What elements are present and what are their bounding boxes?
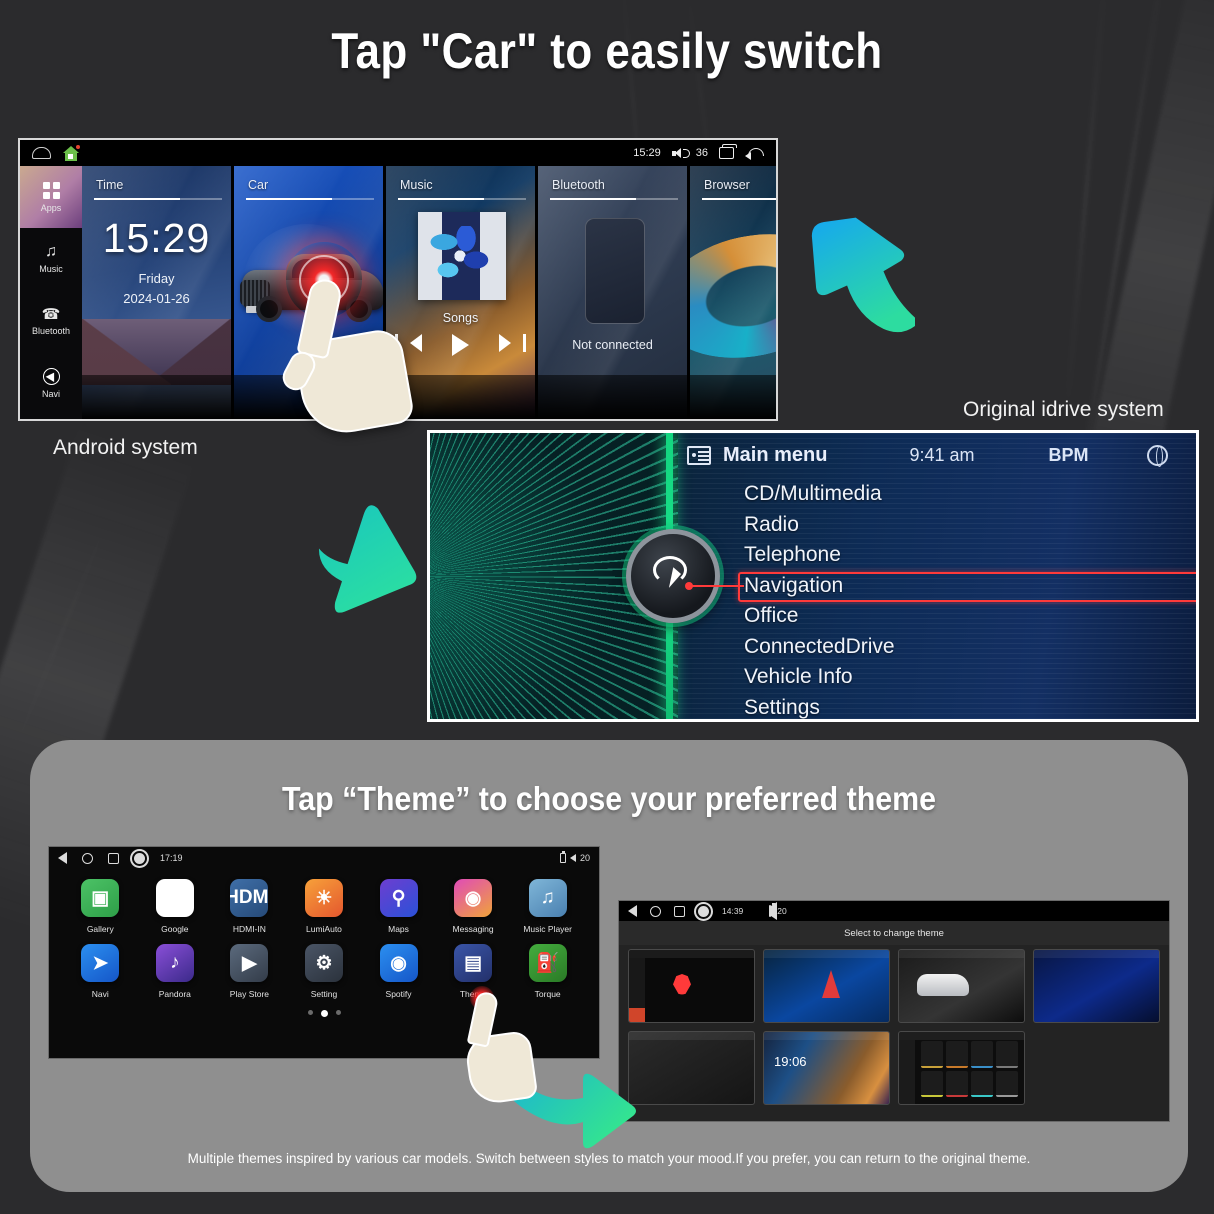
rail-item-label: Music [39,264,63,274]
apps-grid-icon [43,182,60,199]
app-hdmi-in[interactable]: HDMI HDMI-IN [220,879,278,934]
torque-icon: ⛽ [529,944,567,982]
track-label: Songs [386,311,535,325]
rail-item-apps[interactable]: Apps [20,166,82,228]
nav-recents-icon[interactable] [674,906,685,917]
launcher-volume-value: 20 [580,853,590,863]
idrive-brand: BPM [1049,445,1089,466]
android-system-label: Android system [53,436,198,460]
app-label: Gallery [71,924,129,934]
app-setting[interactable]: ⚙ Setting [295,944,353,999]
theme-thumbnail-grid: 19:06 [619,945,1169,1109]
theme-thumb-blue-icons[interactable] [763,949,890,1023]
clock-weekday: Friday [82,271,231,286]
app-maps[interactable]: ⚲ Maps [370,879,428,934]
navi-icon: ➤ [81,944,119,982]
app-label: Pandora [146,989,204,999]
app-label: Spotify [370,989,428,999]
rail-item-navi[interactable]: Navi [20,352,82,414]
theme-thumb-white-car[interactable] [898,949,1025,1023]
main-menu-icon [687,446,711,465]
tile-time[interactable]: Time 15:29 Friday 2024-01-26 [82,166,234,419]
phone-illustration [585,218,645,324]
theme-thumb-gray-cards[interactable] [628,1031,755,1105]
status-time: 15:29 [633,147,661,159]
tile-bluetooth[interactable]: Bluetooth Not connected [538,166,690,419]
rail-item-bluetooth[interactable]: ☎ Bluetooth [20,290,82,352]
idrive-menu-item-cd-multimedia[interactable]: CD/Multimedia [740,479,1196,510]
android-home-tiles: Time 15:29 Friday 2024-01-26 Car [82,166,776,419]
red-ripple-touch-indicator [286,242,362,318]
android-side-rail: Apps ♫ Music ☎ Bluetooth Navi [20,166,82,419]
lumiauto-icon: ☀ [305,879,343,917]
navigation-icon [43,368,60,385]
nav-home-icon[interactable] [82,853,93,864]
idrive-menu-item-office[interactable]: Office [740,601,1196,632]
hdmi-in-icon: HDMI [230,879,268,917]
app-label: Maps [370,924,428,934]
app-row-1: ▣ Gallery G Google HDMI HDMI-IN ☀ LumiAu… [49,879,599,934]
tile-underline [702,198,778,200]
theme-panel: Tap “Theme” to choose your preferred the… [30,740,1188,1192]
app-label: Music Player [519,924,577,934]
nav-back-icon[interactable] [628,905,637,917]
curved-arrow-up-right-icon [800,212,915,342]
curved-arrow-left-icon [315,505,425,620]
speaker-icon[interactable] [672,148,685,159]
volume-value: 36 [696,147,708,159]
next-track-button[interactable] [499,334,511,352]
music-note-icon: ♫ [45,244,57,260]
app-play-store[interactable]: ▶ Play Store [220,944,278,999]
clock-widget: 15:29 Friday 2024-01-26 [82,218,231,306]
theme-icon: ▤ [454,944,492,982]
tile-underline [398,198,526,200]
theme-thumb-map-red[interactable] [628,949,755,1023]
app-google[interactable]: G Google [146,879,204,934]
tile-title: Browser [704,178,750,192]
maps-icon: ⚲ [380,879,418,917]
app-torque[interactable]: ⛽ Torque [519,944,577,999]
app-music-player[interactable]: ♫ Music Player [519,879,577,934]
theme-chooser-screenshot: 14:39 20 Select to change theme 19:06 [618,900,1170,1122]
idrive-selection-connector [692,585,744,587]
idrive-menu-item-settings[interactable]: Settings [740,693,1196,723]
app-navi[interactable]: ➤ Navi [71,944,129,999]
album-art [418,212,506,300]
app-label: Google [146,924,204,934]
red-touch-indicator-theme [470,986,494,1010]
idrive-system-label: Original idrive system [963,398,1164,422]
bluetooth-status: Not connected [538,338,687,352]
idrive-controller-cursor-icon[interactable] [626,529,720,623]
launcher-time: 17:19 [160,853,183,863]
globe-icon [1147,445,1168,466]
idrive-title: Main menu [723,444,827,467]
chooser-status-bar: 14:39 20 [619,901,1169,921]
android-status-bar: 15:29 36 [20,140,776,166]
google-icon: G [156,879,194,917]
spotify-icon: ◉ [380,944,418,982]
battery-icon [769,905,771,917]
previous-track-button[interactable] [410,334,422,352]
pandora-icon: ♪ [156,944,194,982]
music-transport-controls [386,334,535,356]
app-label: Messaging [444,924,502,934]
app-gallery[interactable]: ▣ Gallery [71,879,129,934]
idrive-screenshot: Main menu 9:41 am BPM CD/Multimedia Radi… [427,430,1199,722]
rail-item-label: Navi [42,389,60,399]
idrive-menu-item-telephone[interactable]: Telephone [740,540,1196,571]
tile-reflection [386,375,535,419]
app-lumiauto[interactable]: ☀ LumiAuto [295,879,353,934]
brightness-icon[interactable] [698,906,709,917]
home-outline-icon[interactable] [32,147,51,159]
app-messaging[interactable]: ◉ Messaging [444,879,502,934]
tile-title: Car [248,178,268,192]
chooser-subtitle: Select to change theme [619,921,1169,945]
rail-item-label: Apps [41,203,62,213]
phone-icon: ☎ [42,307,61,322]
tile-underline [94,198,222,200]
music-player-icon: ♫ [529,879,567,917]
idrive-time: 9:41 am [909,445,974,466]
tile-underline [550,198,678,200]
idrive-menu-item-connecteddrive[interactable]: ConnectedDrive [740,632,1196,663]
battery-icon [560,853,566,863]
tile-title: Music [400,178,433,192]
gallery-icon: ▣ [81,879,119,917]
nav-home-icon[interactable] [650,906,661,917]
clock-time: 15:29 [82,218,231,259]
theme-thumb-blue-radar[interactable] [1033,949,1160,1023]
tile-reflection [234,375,383,419]
theme-thumb-tiles[interactable] [898,1031,1025,1105]
back-icon[interactable] [745,148,762,159]
house-icon[interactable] [63,146,79,161]
tile-underline [246,198,374,200]
app-label: LumiAuto [295,924,353,934]
tile-title: Time [96,178,123,192]
page-headline: Tap "Car" to easily switch [73,22,1141,80]
app-label: Navi [71,989,129,999]
nav-back-icon[interactable] [58,852,67,864]
nav-recents-icon[interactable] [108,853,119,864]
launcher-screenshot: 17:19 20 ▣ Gallery G Google HDMI HDMI-IN… [48,846,600,1059]
chooser-time: 14:39 [722,906,743,916]
messaging-icon: ◉ [454,879,492,917]
tile-reflection [82,375,231,419]
recents-icon[interactable] [719,147,734,159]
tile-reflection [538,375,687,419]
clock-date: 2024-01-26 [82,291,231,306]
tile-title: Bluetooth [552,178,605,192]
launcher-status-bar: 17:19 20 [49,847,599,869]
app-spotify[interactable]: ◉ Spotify [370,944,428,999]
launcher-page-dots[interactable] [49,1010,599,1017]
idrive-header: Main menu 9:41 am BPM [673,439,1190,471]
tile-music[interactable]: Music Songs [386,166,538,419]
rail-item-label: Bluetooth [32,326,70,336]
volume-icon [570,854,576,862]
rail-item-music[interactable]: ♫ Music [20,228,82,290]
brightness-icon[interactable] [134,853,145,864]
theme-panel-note: Multiple themes inspired by various car … [30,1151,1188,1166]
setting-gear-icon: ⚙ [305,944,343,982]
tile-reflection [690,375,778,419]
idrive-menu-item-radio[interactable]: Radio [740,510,1196,541]
idrive-menu-item-vehicle-info[interactable]: Vehicle Info [740,662,1196,693]
app-label: Setting [295,989,353,999]
app-pandora[interactable]: ♪ Pandora [146,944,204,999]
idrive-selection-highlight [738,572,1199,602]
app-label: Torque [519,989,577,999]
chooser-volume-value: 20 [777,906,786,916]
app-label: Play Store [220,989,278,999]
theme-thumb-widgets[interactable]: 19:06 [763,1031,890,1105]
play-store-icon: ▶ [230,944,268,982]
android-head-unit-screenshot: 15:29 36 Apps ♫ Music ☎ Bluetooth Navi [18,138,778,421]
play-button[interactable] [452,334,469,356]
app-label: HDMI-IN [220,924,278,934]
tile-browser[interactable]: Browser [690,166,778,419]
browser-wallpaper [690,218,778,375]
theme-panel-title: Tap “Theme” to choose your preferred the… [76,780,1141,818]
app-row-2: ➤ Navi ♪ Pandora ▶ Play Store ⚙ Setting … [49,944,599,999]
tile-car[interactable]: Car [234,166,386,419]
